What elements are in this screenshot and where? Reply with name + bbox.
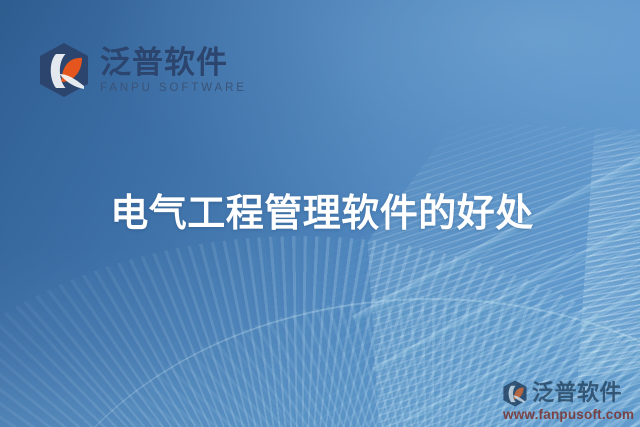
brand-logo: 泛普软件 FANPU SOFTWARE <box>38 42 247 98</box>
watermark-url: www.fanpusoft.com <box>503 408 634 422</box>
promo-banner: 泛普软件 FANPU SOFTWARE 电气工程管理软件的好处 泛普软件 www… <box>0 0 640 427</box>
fanpu-hexagon-sail-logo-icon <box>38 42 90 98</box>
watermark-brand-cn: 泛普软件 <box>532 382 622 404</box>
brand-name-cn: 泛普软件 <box>100 47 247 80</box>
watermark: 泛普软件 www.fanpusoft.com <box>502 380 634 422</box>
watermark-logo-row: 泛普软件 <box>502 380 622 407</box>
brand-name-en: FANPU SOFTWARE <box>100 83 247 95</box>
headline-title: 电气工程管理软件的好处 <box>0 193 640 237</box>
brand-text-block: 泛普软件 FANPU SOFTWARE <box>100 45 247 94</box>
fanpu-hexagon-sail-logo-icon <box>502 380 528 407</box>
